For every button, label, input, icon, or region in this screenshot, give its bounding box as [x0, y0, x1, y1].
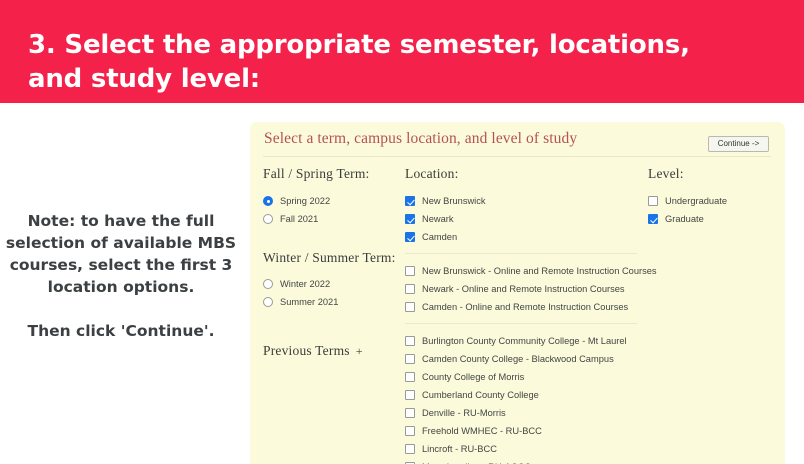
location-partner-option-label: Burlington County Community College - Mt…	[422, 335, 627, 347]
level-option-label: Graduate	[665, 213, 704, 225]
location-partner-option-label: County College of Morris	[422, 371, 524, 383]
fall-spring-option-row[interactable]: Fall 2021	[263, 210, 413, 228]
location-partner-option-row[interactable]: Mays Landing - RU-ACCC	[405, 458, 647, 464]
level-heading: Level:	[648, 166, 778, 182]
location-primary-option-label: Newark	[422, 213, 454, 225]
location-primary-list: New BrunswickNewarkCamden	[405, 192, 647, 246]
location-partner-option-row[interactable]: Burlington County Community College - Mt…	[405, 332, 647, 350]
level-column: Level: UndergraduateGraduate	[648, 166, 778, 228]
note-paragraph-1: Note: to have the full selection of avai…	[4, 210, 238, 298]
fall-spring-option-label: Fall 2021	[280, 213, 318, 225]
location-partner-option-checkbox-unchecked-icon[interactable]	[405, 426, 415, 436]
previous-terms-toggle[interactable]: Previous Terms+	[263, 343, 413, 359]
winter-summer-option-radio-unchecked-icon[interactable]	[263, 279, 273, 289]
location-partner-option-checkbox-unchecked-icon[interactable]	[405, 336, 415, 346]
location-partner-option-checkbox-unchecked-icon[interactable]	[405, 354, 415, 364]
location-partner-option-checkbox-unchecked-icon[interactable]	[405, 444, 415, 454]
location-partner-option-checkbox-unchecked-icon[interactable]	[405, 390, 415, 400]
location-heading: Location:	[405, 166, 647, 182]
level-option-list: UndergraduateGraduate	[648, 192, 778, 228]
winter-summer-option-row[interactable]: Summer 2021	[263, 293, 413, 311]
location-partner-option-checkbox-unchecked-icon[interactable]	[405, 372, 415, 382]
fall-spring-option-row[interactable]: Spring 2022	[263, 192, 413, 210]
winter-summer-option-label: Winter 2022	[280, 278, 330, 290]
plus-icon: +	[356, 344, 363, 358]
level-option-checkbox-checked-icon[interactable]	[648, 214, 658, 224]
location-primary-option-checkbox-checked-icon[interactable]	[405, 214, 415, 224]
location-partner-option-label: Cumberland County College	[422, 389, 539, 401]
location-online-option-row[interactable]: Camden - Online and Remote Instruction C…	[405, 298, 647, 316]
location-divider-1	[405, 253, 637, 254]
level-option-row[interactable]: Undergraduate	[648, 192, 778, 210]
page-title-banner: 3. Select the appropriate semester, loca…	[0, 0, 804, 103]
fall-spring-option-label: Spring 2022	[280, 195, 330, 207]
location-primary-option-row[interactable]: Newark	[405, 210, 647, 228]
location-online-option-checkbox-unchecked-icon[interactable]	[405, 302, 415, 312]
location-primary-option-checkbox-checked-icon[interactable]	[405, 232, 415, 242]
location-partner-option-label: Denville - RU-Morris	[422, 407, 506, 419]
location-partner-option-row[interactable]: County College of Morris	[405, 368, 647, 386]
fall-spring-option-radio-checked-icon[interactable]	[263, 196, 273, 206]
location-online-option-label: Newark - Online and Remote Instruction C…	[422, 283, 625, 295]
location-partner-option-label: Lincroft - RU-BCC	[422, 443, 497, 455]
term-selection-panel: Select a term, campus location, and leve…	[250, 122, 785, 464]
level-option-label: Undergraduate	[665, 195, 727, 207]
header-divider	[263, 156, 771, 157]
location-partner-option-row[interactable]: Camden County College - Blackwood Campus	[405, 350, 647, 368]
continue-button[interactable]: Continue ->	[708, 136, 769, 152]
location-primary-option-row[interactable]: Camden	[405, 228, 647, 246]
fall-spring-heading: Fall / Spring Term:	[263, 166, 413, 182]
note-paragraph-2: Then click 'Continue'.	[4, 320, 238, 342]
fall-spring-option-list: Spring 2022Fall 2021	[263, 192, 413, 228]
level-option-row[interactable]: Graduate	[648, 210, 778, 228]
location-partner-list: Burlington County Community College - Mt…	[405, 332, 647, 464]
winter-summer-heading: Winter / Summer Term:	[263, 250, 413, 266]
location-online-option-row[interactable]: Newark - Online and Remote Instruction C…	[405, 280, 647, 298]
term-column: Fall / Spring Term: Spring 2022Fall 2021…	[263, 166, 413, 359]
location-primary-option-label: New Brunswick	[422, 195, 486, 207]
location-online-option-checkbox-unchecked-icon[interactable]	[405, 266, 415, 276]
location-online-option-checkbox-unchecked-icon[interactable]	[405, 284, 415, 294]
location-primary-option-row[interactable]: New Brunswick	[405, 192, 647, 210]
location-online-option-label: New Brunswick - Online and Remote Instru…	[422, 265, 657, 277]
location-primary-option-checkbox-checked-icon[interactable]	[405, 196, 415, 206]
panel-header: Select a term, campus location, and leve…	[250, 122, 785, 156]
location-primary-option-label: Camden	[422, 231, 457, 243]
location-partner-option-row[interactable]: Lincroft - RU-BCC	[405, 440, 647, 458]
level-option-checkbox-unchecked-icon[interactable]	[648, 196, 658, 206]
page-title: 3. Select the appropriate semester, loca…	[28, 28, 748, 96]
instruction-note: Note: to have the full selection of avai…	[4, 210, 238, 342]
winter-summer-option-label: Summer 2021	[280, 296, 338, 308]
location-divider-2	[405, 323, 637, 324]
previous-terms-label: Previous Terms	[263, 343, 350, 358]
location-online-option-row[interactable]: New Brunswick - Online and Remote Instru…	[405, 262, 647, 280]
location-column: Location: New BrunswickNewarkCamden New …	[405, 166, 647, 464]
location-partner-option-row[interactable]: Cumberland County College	[405, 386, 647, 404]
winter-summer-option-list: Winter 2022Summer 2021	[263, 275, 413, 311]
location-partner-option-checkbox-unchecked-icon[interactable]	[405, 408, 415, 418]
fall-spring-option-radio-unchecked-icon[interactable]	[263, 214, 273, 224]
location-partner-option-row[interactable]: Freehold WMHEC - RU-BCC	[405, 422, 647, 440]
location-partner-option-label: Freehold WMHEC - RU-BCC	[422, 425, 542, 437]
winter-summer-option-row[interactable]: Winter 2022	[263, 275, 413, 293]
panel-title: Select a term, campus location, and leve…	[264, 130, 577, 148]
location-partner-option-row[interactable]: Denville - RU-Morris	[405, 404, 647, 422]
location-online-option-label: Camden - Online and Remote Instruction C…	[422, 301, 628, 313]
location-online-list: New Brunswick - Online and Remote Instru…	[405, 262, 647, 316]
winter-summer-option-radio-unchecked-icon[interactable]	[263, 297, 273, 307]
location-partner-option-label: Camden County College - Blackwood Campus	[422, 353, 614, 365]
